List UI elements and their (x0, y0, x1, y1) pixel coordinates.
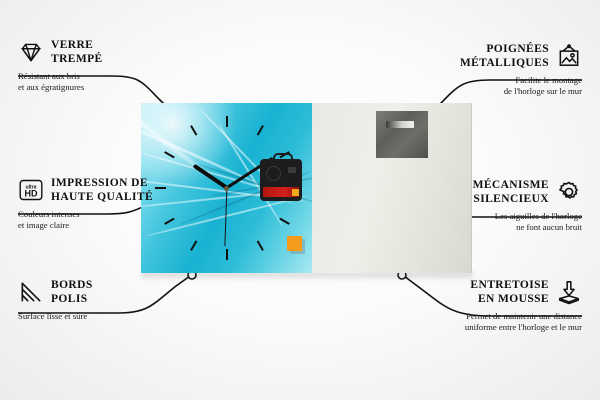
feature-title: POIGNÉESMÉTALLIQUES (460, 42, 549, 70)
feature-description: Permet de maintenir une distanceuniforme… (352, 311, 582, 334)
picture-hanger-icon (556, 43, 582, 69)
gear-icon (556, 179, 582, 205)
feature-description: Surface lisse et sûre (18, 311, 228, 322)
foam-spacer (287, 236, 302, 251)
infographic-canvas: VERRETREMPÉ Résistant aux briset aux égr… (0, 0, 600, 400)
metal-hanger-plate (376, 111, 428, 158)
feature-description: Facilite le montagede l'horloge sur le m… (372, 75, 582, 98)
feature-bords-polis: BORDSPOLIS Surface lisse et sûre (18, 278, 228, 322)
feature-title: VERRETREMPÉ (51, 38, 103, 66)
feature-entretoise-en-mousse: ENTRETOISEEN MOUSSE Permet de maintenir … (352, 278, 582, 333)
foam-spacer-icon (556, 279, 582, 305)
diamond-icon (18, 39, 44, 65)
feature-description: Résistant aux briset aux égratignures (18, 71, 228, 94)
feature-impression-haute-qualite: ultra HD IMPRESSION DEHAUTE QUALITÉ Coul… (18, 176, 228, 231)
feature-description: Couleurs intenseset image claire (18, 209, 228, 232)
feature-description: Les aiguilles de l'horlogene font aucun … (372, 211, 582, 234)
feature-verre-trempe: VERRETREMPÉ Résistant aux briset aux égr… (18, 38, 228, 93)
clock-mechanism (260, 159, 302, 201)
svg-text:HD: HD (25, 189, 38, 199)
feature-mecanisme-silencieux: MÉCANISMESILENCIEUX Les aiguilles de l'h… (372, 178, 582, 233)
ultra-hd-icon: ultra HD (18, 177, 44, 203)
feature-title: IMPRESSION DEHAUTE QUALITÉ (51, 176, 153, 204)
feature-title: MÉCANISMESILENCIEUX (473, 178, 549, 206)
feature-title: ENTRETOISEEN MOUSSE (470, 278, 549, 306)
feature-poignees-metalliques: POIGNÉESMÉTALLIQUES Facilite le montaged… (372, 42, 582, 97)
polished-edges-icon (18, 279, 44, 305)
feature-title: BORDSPOLIS (51, 278, 93, 306)
